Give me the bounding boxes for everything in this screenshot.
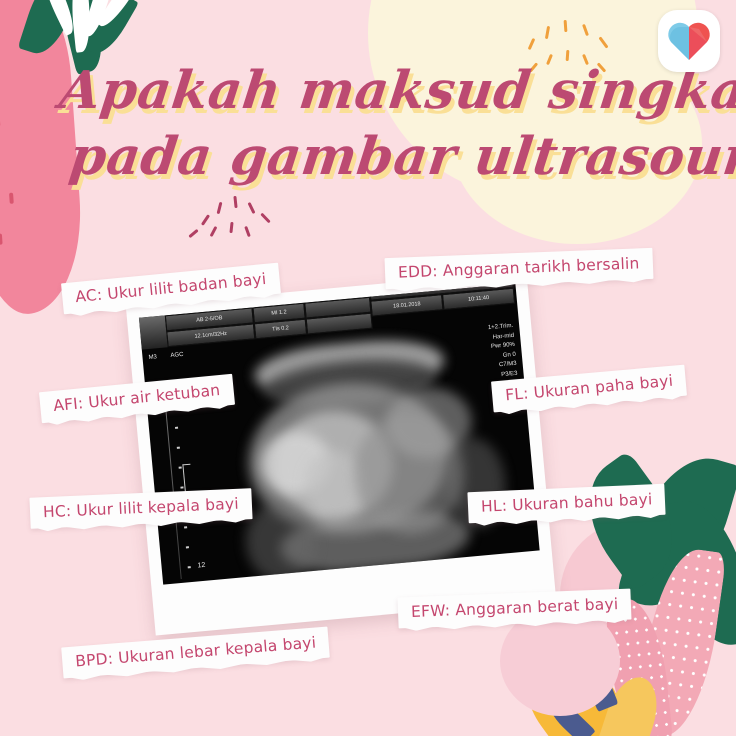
- polaroid-photo-frame: AB 2-5/OB 12.1cm/32Hz MI 1.2 TIs 0.2 Lor…: [126, 270, 556, 635]
- white-petal-icon: [97, 0, 143, 31]
- label-tag-bpd[interactable]: BPD: Ukuran lebar kepala bayi: [61, 627, 330, 679]
- title-line-2: pada gambar ultrasound?: [66, 124, 696, 190]
- green-leaf-icon: [18, 0, 83, 60]
- confetti-cluster-maroon: [182, 196, 292, 252]
- white-petal-icon: [35, 0, 80, 36]
- label-text-hc: HC: Ukur lilit kepala bayi: [43, 495, 239, 522]
- label-text-hl: HL: Ukuran bahu bayi: [481, 490, 653, 515]
- label-text-efw: EFW: Anggaran berat bayi: [411, 595, 619, 621]
- label-tag-edd[interactable]: EDD: Anggaran tarikh bersalin: [385, 248, 654, 289]
- green-leaf-icon: [660, 493, 736, 653]
- green-leaf-icon: [83, 0, 139, 60]
- sonogram-image: [139, 284, 540, 585]
- white-petal-icon: [68, 0, 94, 53]
- heart-icon: [658, 10, 720, 72]
- white-petal-icon: [84, 0, 117, 39]
- label-text-bpd: BPD: Ukuran lebar kepala bayi: [75, 634, 317, 671]
- green-leaf-icon: [616, 443, 736, 621]
- page-title: Apakah maksud singkatan pada gambar ultr…: [48, 58, 704, 190]
- label-text-edd: EDD: Anggaran tarikh bersalin: [398, 254, 640, 281]
- brand-logo[interactable]: [658, 10, 720, 72]
- ultrasound-screen: AB 2-5/OB 12.1cm/32Hz MI 1.2 TIs 0.2 Lor…: [139, 284, 540, 585]
- infographic-canvas: Apakah maksud singkatan pada gambar ultr…: [0, 0, 736, 736]
- title-line-1: Apakah maksud singkatan: [56, 58, 704, 124]
